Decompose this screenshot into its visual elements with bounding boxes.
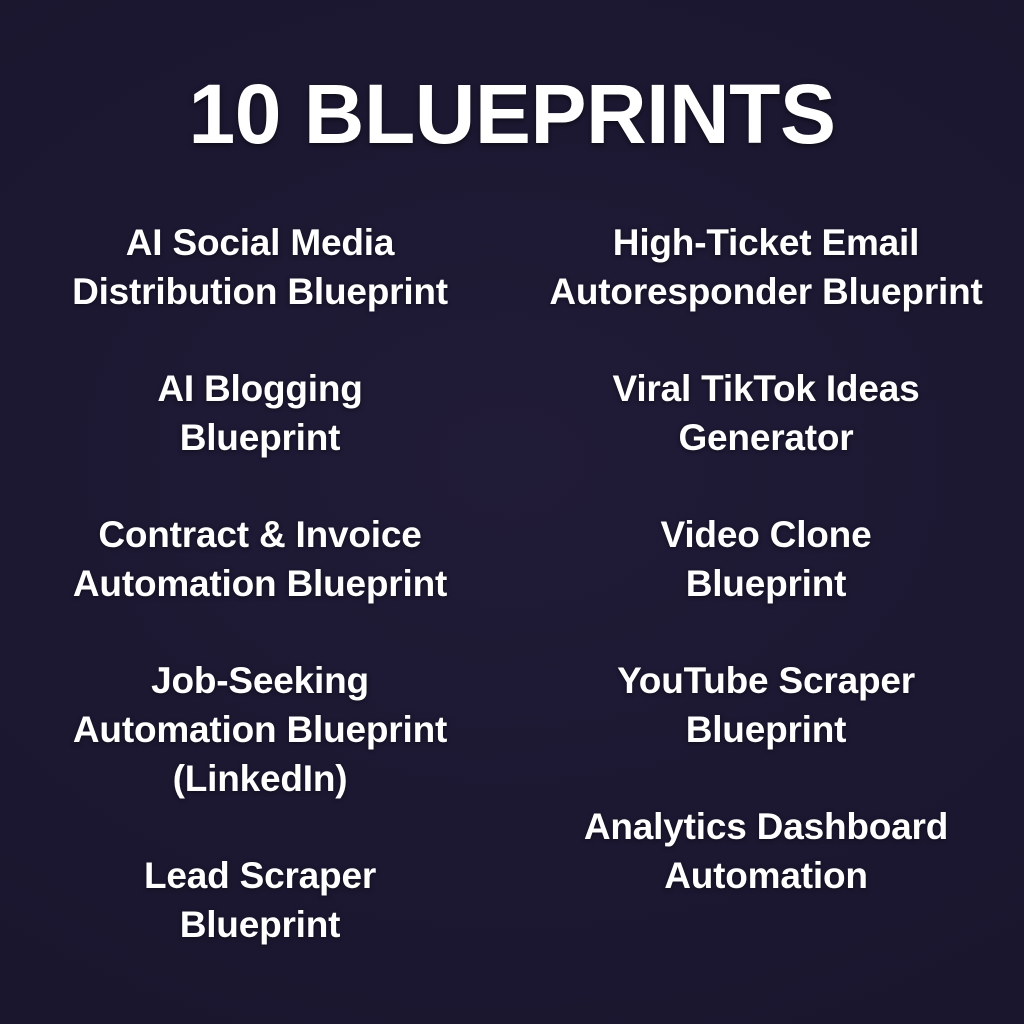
blueprint-column-left: AI Social Media Distribution Blueprint A… xyxy=(10,218,512,949)
list-item: AI Blogging Blueprint xyxy=(32,364,488,462)
blueprint-columns: AI Social Media Distribution Blueprint A… xyxy=(0,156,1024,1024)
list-item: AI Social Media Distribution Blueprint xyxy=(32,218,488,316)
blueprint-column-right: High-Ticket Email Autoresponder Blueprin… xyxy=(512,218,1014,900)
page-title: 10 BLUEPRINTS xyxy=(0,0,1024,156)
list-item: Video Clone Blueprint xyxy=(536,510,996,608)
list-item: Viral TikTok Ideas Generator xyxy=(536,364,996,462)
list-item: YouTube Scraper Blueprint xyxy=(536,656,996,754)
list-item: Contract & Invoice Automation Blueprint xyxy=(32,510,488,608)
list-item: Analytics Dashboard Automation xyxy=(536,802,996,900)
blueprints-poster: 10 BLUEPRINTS AI Social Media Distributi… xyxy=(0,0,1024,1024)
list-item: Lead Scraper Blueprint xyxy=(32,851,488,949)
list-item: Job-Seeking Automation Blueprint (Linked… xyxy=(32,656,488,803)
list-item: High-Ticket Email Autoresponder Blueprin… xyxy=(536,218,996,316)
